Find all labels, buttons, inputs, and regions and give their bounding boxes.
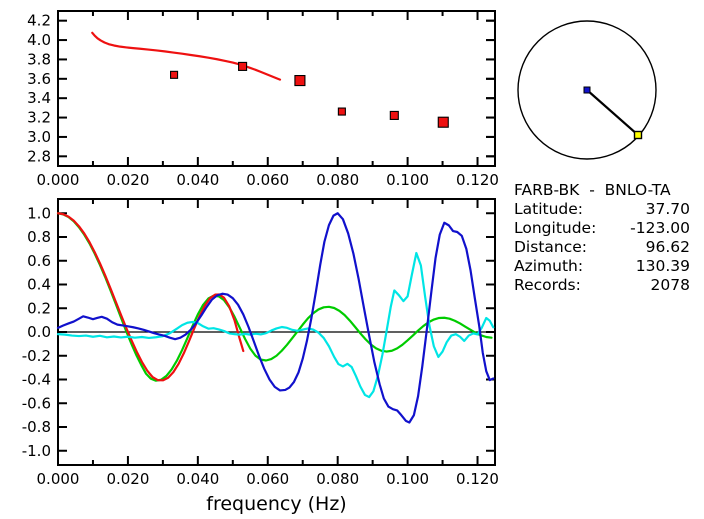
y-tick-label: 0.2 bbox=[27, 299, 51, 317]
y-tick-label: 3.4 bbox=[27, 89, 51, 107]
y-tick-label: 3.0 bbox=[27, 128, 51, 146]
info-value-longitude: -123.00 bbox=[630, 219, 690, 237]
info-label-records: Records: bbox=[514, 276, 581, 294]
y-tick-label: 2.8 bbox=[27, 147, 51, 165]
info-label-azimuth: Azimuth: bbox=[514, 257, 583, 275]
station-pair-label: FARB-BK - BNLO-TA bbox=[514, 181, 671, 199]
x-axis-title: frequency (Hz) bbox=[206, 493, 346, 515]
y-tick-label: -0.6 bbox=[22, 394, 51, 412]
measured-phase-velocity-points bbox=[171, 62, 449, 127]
velocity-dispersion-panel: 0.0000.0200.0400.0600.0800.1000.1202.83.… bbox=[27, 11, 499, 189]
cross-correlation-panel: 0.0000.0200.0400.0600.0800.1000.120-1.0-… bbox=[22, 199, 499, 515]
data-point-marker bbox=[338, 108, 345, 115]
data-point-marker bbox=[438, 117, 448, 127]
info-value-distance: 96.62 bbox=[646, 238, 690, 256]
info-value-records: 2078 bbox=[651, 276, 690, 294]
x-tick-label: 0.040 bbox=[176, 470, 219, 488]
info-value-azimuth: 130.39 bbox=[636, 257, 690, 275]
x-tick-label: 0.080 bbox=[316, 470, 359, 488]
info-value-latitude: 37.70 bbox=[646, 200, 690, 218]
y-tick-label: 0.8 bbox=[27, 228, 51, 246]
x-tick-label: 0.020 bbox=[106, 171, 149, 189]
figure-root: 0.0000.0200.0400.0600.0800.1000.1202.83.… bbox=[0, 0, 704, 519]
y-tick-label: 3.6 bbox=[27, 70, 51, 88]
y-tick-label: 0.6 bbox=[27, 252, 51, 270]
y-tick-label: -0.2 bbox=[22, 347, 51, 365]
info-label-longitude: Longitude: bbox=[514, 219, 596, 237]
data-point-marker bbox=[295, 76, 305, 86]
y-tick-label: 1.0 bbox=[27, 204, 51, 222]
data-point-marker bbox=[171, 71, 178, 78]
x-tick-label: 0.100 bbox=[386, 470, 429, 488]
x-tick-label: 0.000 bbox=[37, 470, 80, 488]
green-model-spectrum bbox=[58, 213, 492, 380]
azimuth-compass-panel bbox=[518, 21, 656, 159]
x-tick-label: 0.120 bbox=[456, 470, 499, 488]
x-tick-label: 0.120 bbox=[456, 171, 499, 189]
origin-station-marker bbox=[584, 87, 590, 93]
y-tick-label: 3.2 bbox=[27, 109, 51, 127]
reference-dispersion-curve bbox=[92, 33, 280, 80]
y-tick-label: 4.0 bbox=[27, 31, 51, 49]
scientific-figure: 0.0000.0200.0400.0600.0800.1000.1202.83.… bbox=[0, 0, 704, 519]
y-tick-label: -1.0 bbox=[22, 442, 51, 460]
x-tick-label: 0.100 bbox=[386, 171, 429, 189]
y-tick-label: 0.0 bbox=[27, 323, 51, 341]
y-tick-label: 0.4 bbox=[27, 276, 51, 294]
x-tick-label: 0.040 bbox=[176, 171, 219, 189]
x-tick-label: 0.000 bbox=[37, 171, 80, 189]
data-point-marker bbox=[390, 111, 398, 119]
station-path-line bbox=[587, 90, 638, 135]
destination-station-marker bbox=[635, 132, 642, 139]
station-info-panel: FARB-BK - BNLO-TALatitude:37.70Longitude… bbox=[514, 181, 690, 294]
x-tick-label: 0.080 bbox=[316, 171, 359, 189]
info-label-distance: Distance: bbox=[514, 238, 587, 256]
y-tick-label: -0.8 bbox=[22, 418, 51, 436]
info-label-latitude: Latitude: bbox=[514, 200, 583, 218]
x-tick-label: 0.060 bbox=[246, 470, 289, 488]
y-tick-label: 3.8 bbox=[27, 50, 51, 68]
x-tick-label: 0.020 bbox=[106, 470, 149, 488]
y-tick-label: 4.2 bbox=[27, 12, 51, 30]
data-point-marker bbox=[239, 62, 247, 70]
x-tick-label: 0.060 bbox=[246, 171, 289, 189]
top-plot-frame bbox=[58, 11, 495, 166]
y-tick-label: -0.4 bbox=[22, 371, 51, 389]
